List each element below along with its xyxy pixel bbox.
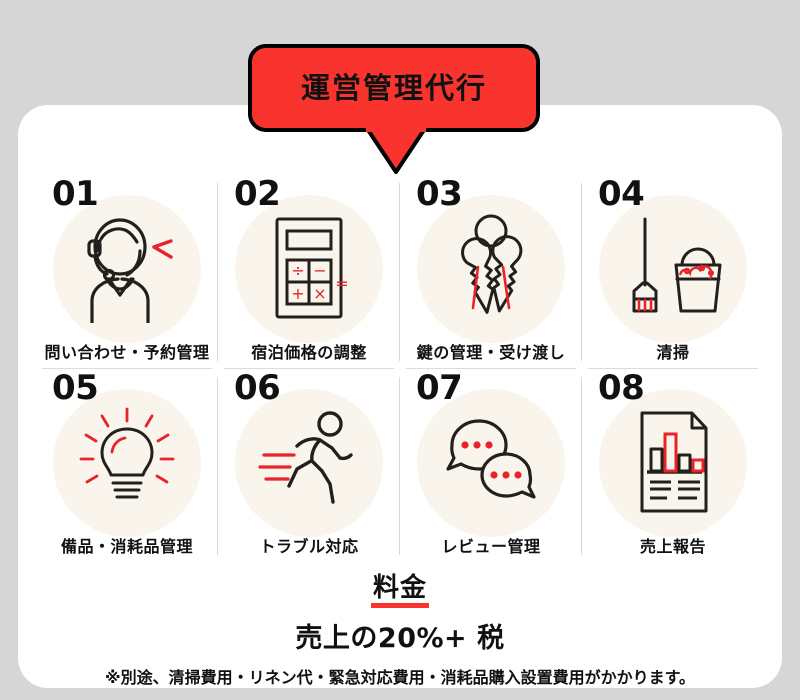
operator-headset-icon <box>68 213 186 323</box>
fee-amount: 売上の20%+ 税 <box>18 616 782 655</box>
service-label: 売上報告 <box>582 533 764 557</box>
keys-icon <box>432 213 550 323</box>
badge-box: 運営管理代行 <box>248 44 540 132</box>
service-label: 鍵の管理・受け渡し <box>400 339 582 363</box>
svg-text:×: × <box>313 284 326 303</box>
svg-text:+: + <box>291 284 304 303</box>
service-label: トラブル対応 <box>218 533 400 557</box>
header-badge: 運営管理代行 <box>248 44 548 174</box>
service-cell-07[interactable]: 07 レビュー管理 <box>400 369 582 563</box>
service-number: 01 <box>52 177 98 211</box>
fee-section: 料金 売上の20%+ 税 ※別途、清掃費用・リネン代・緊急対応費用・消耗品購入設… <box>18 567 782 688</box>
service-number: 06 <box>234 371 280 405</box>
svg-text:=: = <box>335 274 348 293</box>
service-label: 宿泊価格の調整 <box>218 339 400 363</box>
fee-title-wrap: 料金 <box>373 567 427 604</box>
service-label: 備品・消耗品管理 <box>36 533 218 557</box>
fee-note: ※別途、清掃費用・リネン代・緊急対応費用・消耗品購入設置費用がかかります。 <box>18 664 782 688</box>
service-cell-03[interactable]: 03 鍵の管理・受け渡し <box>400 175 582 369</box>
service-label: 問い合わせ・予約管理 <box>36 339 218 363</box>
report-document-icon <box>614 407 732 517</box>
service-number: 08 <box>598 371 644 405</box>
service-number: 07 <box>416 371 462 405</box>
badge-pointer-icon <box>366 128 426 174</box>
service-number: 05 <box>52 371 98 405</box>
svg-text:−: − <box>313 261 326 280</box>
lightbulb-icon <box>68 407 186 517</box>
fee-title-underline <box>371 603 429 608</box>
speech-bubbles-icon <box>432 407 550 517</box>
poster-stage: 01 <box>0 0 800 700</box>
service-label: 清掃 <box>582 339 764 363</box>
svg-text:÷: ÷ <box>291 261 304 280</box>
content-card: 01 <box>18 105 782 688</box>
fee-title: 料金 <box>373 573 427 603</box>
service-cell-01[interactable]: 01 <box>36 175 218 369</box>
calculator-icon: ÷ − + × = <box>250 213 368 323</box>
service-cell-02[interactable]: 02 ÷ <box>218 175 400 369</box>
service-label: レビュー管理 <box>400 533 582 557</box>
running-person-icon <box>250 407 368 517</box>
service-cell-04[interactable]: 04 <box>582 175 764 369</box>
service-cell-05[interactable]: 05 <box>36 369 218 563</box>
service-number: 04 <box>598 177 644 211</box>
service-number: 02 <box>234 177 280 211</box>
services-grid: 01 <box>36 175 764 563</box>
service-cell-08[interactable]: 08 <box>582 369 764 563</box>
service-number: 03 <box>416 177 462 211</box>
broom-bucket-icon <box>614 213 732 323</box>
service-cell-06[interactable]: 06 ト <box>218 369 400 563</box>
badge-label: 運営管理代行 <box>301 74 487 103</box>
